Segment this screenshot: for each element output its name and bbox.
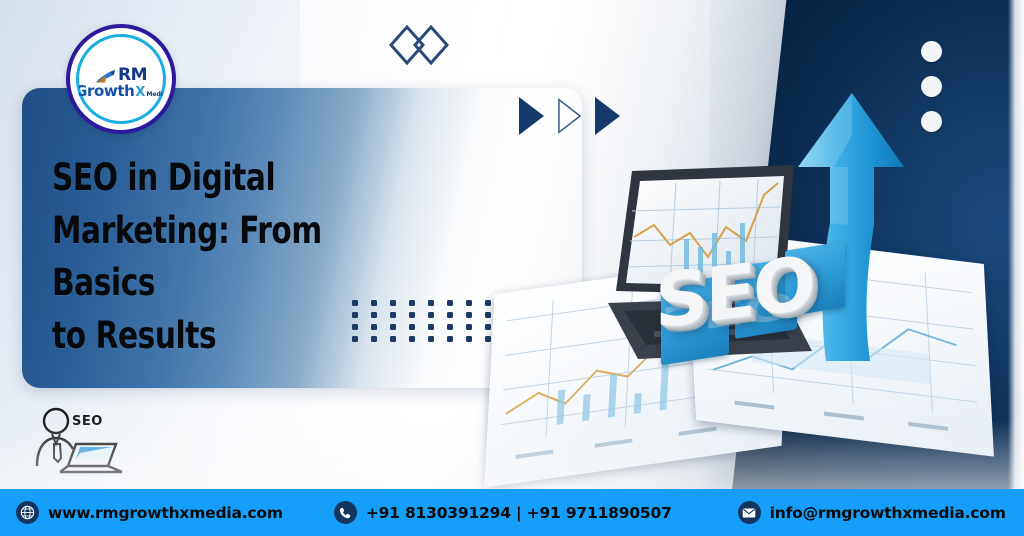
footer-website[interactable]: www.rmgrowthxmedia.com: [16, 501, 283, 524]
grid-dot: [371, 300, 377, 306]
background-right-edge-strip: [1008, 0, 1024, 536]
logo-text-rm: RM: [118, 67, 147, 84]
grid-dot: [352, 300, 358, 306]
logo-mark: RM Growth X Media: [79, 53, 163, 105]
hero-3d-composition: SEO SEO: [470, 75, 990, 475]
grid-dot: [428, 312, 434, 318]
globe-icon: [16, 501, 39, 524]
grid-dot: [447, 336, 453, 342]
grid-dot: [390, 312, 396, 318]
grid-dot: [352, 312, 358, 318]
seo-marketing-banner: SEO in Digital Marketing: From Basics to…: [0, 0, 1024, 536]
grid-dot: [390, 300, 396, 306]
grid-dot: [352, 324, 358, 330]
footer-phone-text: +91 8130391294 | +91 9711890507: [366, 504, 672, 522]
footer-phone[interactable]: +91 8130391294 | +91 9711890507: [334, 501, 672, 524]
grid-dot: [428, 324, 434, 330]
seo-badge-label: SEO: [72, 414, 103, 429]
grid-dot: [371, 336, 377, 342]
grid-dot: [390, 324, 396, 330]
grid-dot: [428, 300, 434, 306]
grid-dot: [409, 336, 415, 342]
grid-dot: [390, 336, 396, 342]
phone-icon: [334, 501, 357, 524]
white-dot: [921, 41, 942, 62]
envelope-icon: [738, 501, 761, 524]
logo-text-media: Media: [146, 92, 163, 98]
grid-dot: [409, 324, 415, 330]
grid-dot: [447, 300, 453, 306]
grid-dot: [352, 336, 358, 342]
logo-text-x: X: [135, 86, 145, 99]
seo-3d-wordmark: SEO SEO: [655, 250, 885, 365]
interlocking-diamond-icon: [387, 23, 451, 67]
grid-dot: [371, 312, 377, 318]
grid-dot: [409, 312, 415, 318]
logo-text-growth: Growth: [79, 84, 134, 99]
grid-dot: [371, 324, 377, 330]
grid-dot: [409, 300, 415, 306]
brand-logo[interactable]: RM Growth X Media: [66, 24, 176, 134]
grid-dot: [428, 336, 434, 342]
grid-dot: [447, 324, 453, 330]
footer-email[interactable]: info@rmgrowthxmedia.com: [738, 501, 1006, 524]
grid-dot: [447, 312, 453, 318]
footer-website-text: www.rmgrowthxmedia.com: [48, 504, 283, 522]
contact-footer-bar: www.rmgrowthxmedia.com +91 8130391294 | …: [0, 489, 1024, 536]
footer-email-text: info@rmgrowthxmedia.com: [770, 504, 1006, 522]
